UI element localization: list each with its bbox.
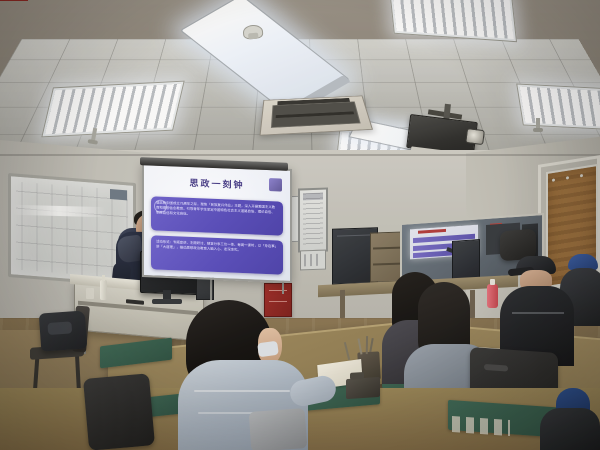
smoke-detector-icon xyxy=(243,24,264,39)
far-right-person-body xyxy=(540,408,600,450)
reflected-slide-block-3 xyxy=(413,250,453,258)
projection-screen: 思政一刻钟 值此新中国成立75周年之际，聚焦「民族复兴伟业」主题，深入开展爱国主… xyxy=(142,163,292,283)
bench-leg-1 xyxy=(340,290,345,318)
louver-panel-light-1 xyxy=(41,81,184,138)
whiteboard-magnet-note xyxy=(110,189,127,200)
paper-cup xyxy=(86,288,94,299)
slide-content-block-2: 活动形式：专题宣讲、主题研讨、随堂分享三位一体，每周一课时，以「身边事」讲「大道… xyxy=(151,235,283,274)
bench-leg-2 xyxy=(470,290,475,318)
wall-ceiling-seam xyxy=(0,154,600,156)
monitor-base xyxy=(152,299,182,304)
louver-panel-light-2 xyxy=(389,0,517,42)
ceiling-air-conditioner xyxy=(259,96,373,136)
reflected-slide-title xyxy=(418,229,446,234)
hand-press-tool xyxy=(346,377,380,399)
fire-cabinet-top xyxy=(0,0,28,1)
fire-equipment-cabinet xyxy=(264,283,292,317)
equipment-box xyxy=(452,239,480,281)
grey-stool[interactable] xyxy=(249,408,308,450)
classroom-screenshot: 思政一刻钟 值此新中国成立75周年之际，聚焦「民族复兴伟业」主题，深入开展爱国主… xyxy=(0,0,600,450)
slide-content-block-1: 值此新中国成立75周年之际，聚焦「民族复兴伟业」主题，深入开展爱国主义教育和理想… xyxy=(151,196,283,235)
office-chair-foreground[interactable] xyxy=(83,373,155,450)
pink-thermos-bottle xyxy=(487,284,498,308)
black-backpack xyxy=(39,310,88,351)
louver-panel-light-3 xyxy=(516,83,600,130)
slide-block-text-1: 值此新中国成立75周年之际，聚焦「民族复兴伟业」主题，深入开展爱国主义教育和理想… xyxy=(156,201,278,222)
slide-block-text-2: 活动形式：专题宣讲、主题研讨、随堂分享三位一体，每周一课时，以「身边事」讲「大道… xyxy=(156,240,278,255)
water-bottle xyxy=(100,280,107,300)
ac-grille xyxy=(271,101,361,127)
slide-logo-icon xyxy=(269,178,282,192)
projector-lens-icon xyxy=(465,128,485,145)
slide-bullet-icon-1 xyxy=(154,199,167,213)
face-mask xyxy=(257,341,279,358)
notice-text-lines xyxy=(303,193,323,248)
wall-notice-board xyxy=(298,187,328,252)
wall-notice-board-small xyxy=(300,250,326,271)
sprinkler-head-icon-2 xyxy=(536,118,540,130)
